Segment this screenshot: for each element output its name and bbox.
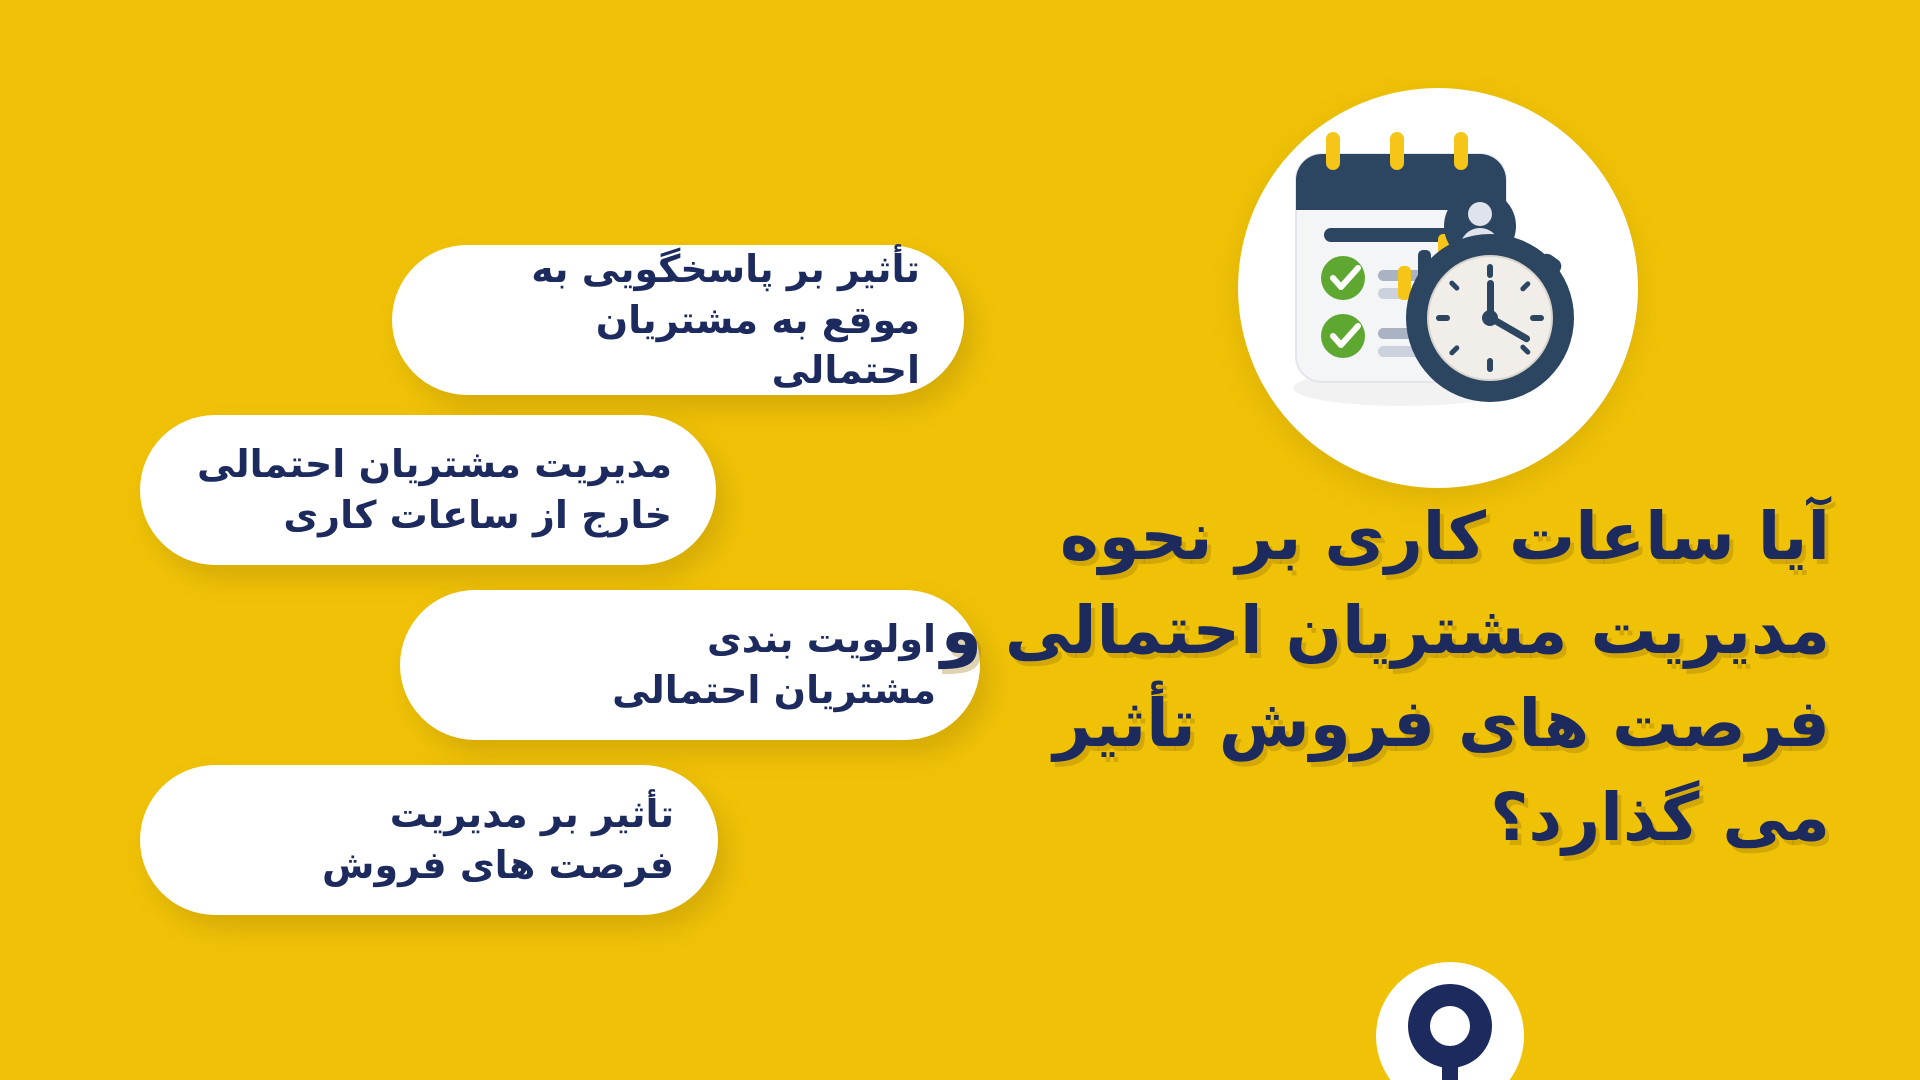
logo-badge [1376,962,1524,1080]
poster-canvas: تأثیر بر پاسخگویی به موقع به مشتریان احت… [0,0,1920,1080]
checklist-check-1 [1321,256,1365,300]
illustration-badge [1238,88,1638,488]
pill-label: تأثیر بر مدیریت فرصت های فروش [322,789,674,891]
list-item[interactable]: اولویت بندی مشتریان احتمالی [400,590,980,740]
page-title: آیا ساعات کاری بر نحوه مدیریت مشتریان اح… [930,490,1830,865]
checklist-check-2 [1321,314,1365,358]
list-item[interactable]: تأثیر بر مدیریت فرصت های فروش [140,765,718,915]
pill-label: تأثیر بر پاسخگویی به موقع به مشتریان احت… [436,244,920,397]
list-item[interactable]: مدیریت مشتریان احتمالی خارج از ساعات کار… [140,415,716,565]
pill-list: تأثیر بر پاسخگویی به موقع به مشتریان احت… [0,0,1000,1080]
pill-label: اولویت بندی مشتریان احتمالی [612,614,936,716]
stopwatch-icon [1406,234,1574,402]
pill-label: مدیریت مشتریان احتمالی خارج از ساعات کار… [197,439,672,541]
brand-logo-mark-icon [1376,962,1524,1080]
list-item[interactable]: تأثیر بر پاسخگویی به موقع به مشتریان احت… [392,245,964,395]
calendar-checklist-stopwatch-icon [1238,88,1638,488]
